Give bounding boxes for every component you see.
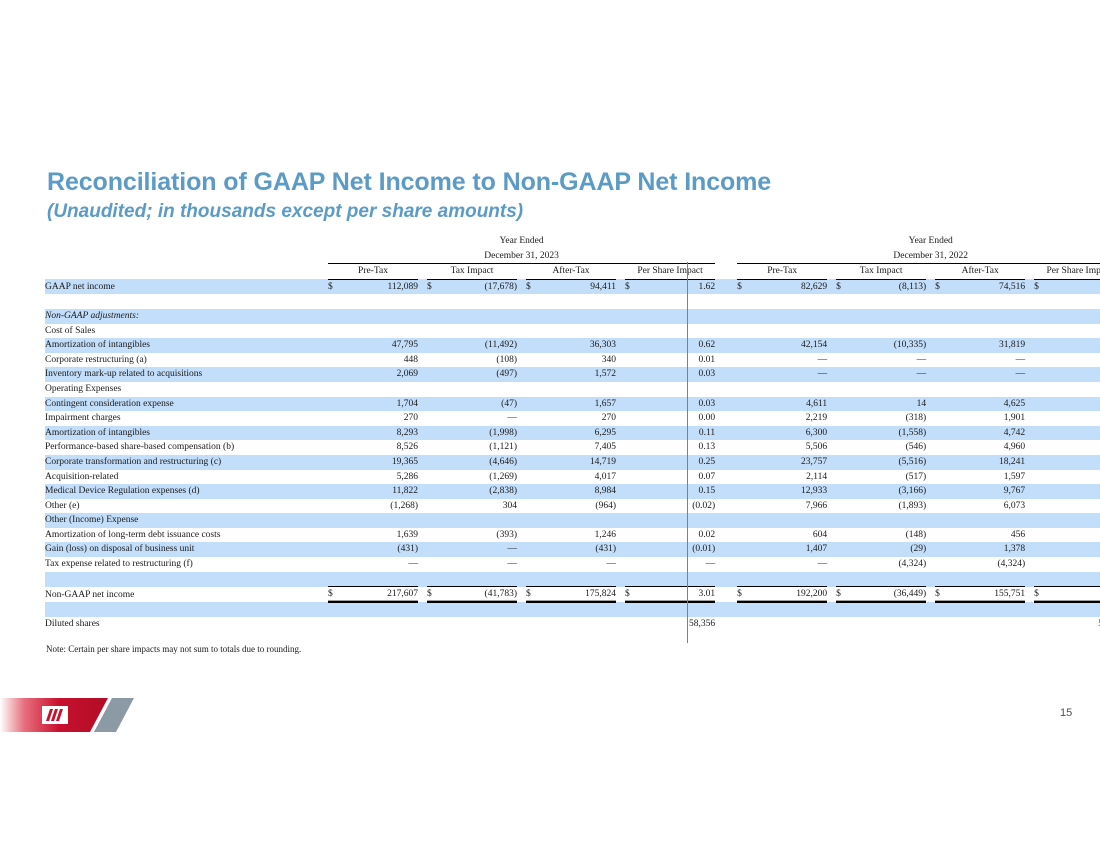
currency-symbol-y2023-pretax [328,294,342,309]
cell-gap [616,426,625,441]
cell-y2023-tax: — [441,542,517,557]
currency-symbol-y2023-pershare [625,382,639,397]
currency-symbol-y2023-pershare [625,470,639,485]
currency-symbol-y2022-pretax [737,513,751,528]
cell-y2023-pretax [342,309,418,324]
row-divider-gap [715,557,737,572]
currency-symbol-y2023-aftertax [526,617,540,632]
cell-y2023-aftertax [540,602,616,617]
cell-y2023-tax: (393) [441,528,517,543]
currency-symbol-y2023-pershare [625,397,639,412]
row-divider-gap [715,309,737,324]
rounding-note: Note: Certain per share impacts may not … [46,644,301,654]
currency-symbol-y2023-tax [427,557,441,572]
row-label: Operating Expenses [45,382,328,397]
cell-y2023-pretax [342,294,418,309]
col-header-2023-tax: Tax Impact [427,264,517,280]
cell-gap [926,617,935,632]
currency-symbol-y2023-pershare [625,513,639,528]
currency-symbol-y2022-tax [836,411,850,426]
currency-symbol-y2022-tax [836,382,850,397]
cell-y2023-aftertax: 94,411 [540,279,616,294]
cell-y2023-pershare: 0.11 [639,426,715,441]
cell-gap [1025,455,1034,470]
cell-y2023-pretax [342,572,418,587]
cell-gap [827,542,836,557]
cell-y2023-pershare: 1.62 [639,279,715,294]
currency-symbol-y2022-tax [836,338,850,353]
currency-symbol-y2023-aftertax [526,513,540,528]
currency-symbol-y2023-pershare [625,411,639,426]
cell-y2022-aftertax: 1,901 [949,411,1025,426]
currency-symbol-y2023-pershare [625,542,639,557]
currency-symbol-y2023-pretax [328,309,342,324]
row-label: Non-GAAP net income [45,587,328,603]
row-divider-gap [715,587,737,603]
cell-y2022-pretax: 192,200 [751,587,827,603]
currency-symbol-y2022-pershare [1034,353,1048,368]
cell-gap [418,397,427,412]
cell-y2023-aftertax: 175,824 [540,587,616,603]
cell-y2022-aftertax: 1,378 [949,542,1025,557]
currency-symbol-y2023-aftertax [526,353,540,368]
row-label: Performance-based share-based compensati… [45,440,328,455]
currency-symbol-y2022-pretax [737,426,751,441]
cell-y2022-pershare: 0.17 [1048,484,1100,499]
row-label: Other (e) [45,499,328,514]
cell-y2023-pershare: 0.15 [639,484,715,499]
currency-symbol-y2022-aftertax [935,338,949,353]
currency-symbol-y2023-pershare [625,294,639,309]
row-divider-gap [715,324,737,339]
cell-y2023-pershare [639,572,715,587]
cell-gap [1025,513,1034,528]
row-divider-gap [715,440,737,455]
cell-gap [926,294,935,309]
currency-symbol-y2023-aftertax: $ [526,279,540,294]
currency-symbol-y2022-aftertax [935,499,949,514]
cell-y2022-pretax: 42,154 [751,338,827,353]
currency-symbol-y2023-pershare [625,440,639,455]
cell-y2022-pretax [751,382,827,397]
cell-gap [926,382,935,397]
table-row [45,602,1100,617]
cell-y2023-aftertax: (964) [540,499,616,514]
period-2022-line1: Year Ended [737,234,1100,249]
currency-symbol-y2022-aftertax [935,484,949,499]
cell-y2022-aftertax: — [949,367,1025,382]
table-row: Other (Income) Expense [45,513,1100,528]
cell-y2022-pretax: 1,407 [751,542,827,557]
currency-symbol-y2022-tax [836,294,850,309]
cell-y2022-pershare: 0.11 [1048,499,1100,514]
cell-y2022-aftertax [949,382,1025,397]
table-row: Acquisition-related 5,286 (1,269) 4,017 … [45,470,1100,485]
cell-y2022-tax [850,324,926,339]
cell-y2023-pretax: 5,286 [342,470,418,485]
cell-gap [517,309,526,324]
cell-y2022-aftertax [949,513,1025,528]
cell-y2023-aftertax: 1,246 [540,528,616,543]
currency-symbol-y2023-tax: $ [427,279,441,294]
cell-y2022-tax: (546) [850,440,926,455]
cell-gap [926,542,935,557]
cell-gap [1025,617,1034,632]
cell-y2023-tax [441,617,517,632]
row-label: Amortization of intangibles [45,426,328,441]
cell-y2022-pretax: 604 [751,528,827,543]
cell-y2023-pershare: 0.25 [639,455,715,470]
cell-gap [517,382,526,397]
row-divider-gap [715,279,737,294]
cell-gap [616,587,625,603]
cell-gap [418,411,427,426]
currency-symbol-y2022-aftertax: $ [935,587,949,603]
cell-y2022-aftertax: 74,516 [949,279,1025,294]
currency-symbol-y2023-tax [427,528,441,543]
cell-gap [418,440,427,455]
cell-y2022-pretax: — [751,557,827,572]
currency-symbol-y2023-aftertax [526,557,540,572]
currency-symbol-y2022-pretax [737,367,751,382]
cell-y2023-tax [441,513,517,528]
cell-gap [616,455,625,470]
cell-gap [517,353,526,368]
table-row: Cost of Sales [45,324,1100,339]
cell-y2023-tax [441,382,517,397]
cell-y2022-pretax: 6,300 [751,426,827,441]
cell-y2022-pretax [751,513,827,528]
currency-symbol-y2023-aftertax [526,338,540,353]
cell-y2023-pershare [639,602,715,617]
cell-gap [616,557,625,572]
currency-symbol-y2022-aftertax [935,324,949,339]
table-row: Impairment charges 270 — 270 0.00 2,219 … [45,411,1100,426]
cell-y2022-pershare [1048,572,1100,587]
cell-y2023-tax: (4,646) [441,455,517,470]
currency-symbol-y2022-pershare [1034,528,1048,543]
cell-gap [827,513,836,528]
period-2023-line2: December 31, 2023 [328,249,715,264]
cell-gap [926,426,935,441]
currency-symbol-y2022-pretax [737,294,751,309]
row-divider-gap [715,455,737,470]
currency-symbol-y2023-aftertax [526,484,540,499]
currency-symbol-y2022-pershare [1034,484,1048,499]
cell-gap [827,353,836,368]
cell-y2022-aftertax [949,617,1025,632]
cell-gap [418,499,427,514]
cell-gap [827,484,836,499]
cell-y2023-aftertax [540,324,616,339]
cell-gap [517,455,526,470]
cell-y2023-pershare [639,382,715,397]
cell-gap [616,602,625,617]
cell-y2023-pretax: 270 [342,411,418,426]
cell-gap [418,557,427,572]
row-label [45,602,328,617]
cell-y2023-pretax: 11,822 [342,484,418,499]
currency-symbol-y2023-pretax [328,484,342,499]
cell-y2022-aftertax: 31,819 [949,338,1025,353]
cell-y2022-pershare: 0.03 [1048,411,1100,426]
cell-y2022-pretax: 7,966 [751,499,827,514]
header-row-period-line1: Year Ended Year Ended [45,234,1100,249]
col-header-2023-pretax: Pre-Tax [328,264,418,280]
row-divider-gap [715,294,737,309]
cell-y2023-pershare: 0.02 [639,528,715,543]
cell-gap [827,470,836,485]
currency-symbol-y2022-pretax [737,382,751,397]
table-row: Non-GAAP adjustments: [45,309,1100,324]
cell-y2023-tax [441,602,517,617]
cell-y2023-tax: (47) [441,397,517,412]
cell-y2023-pretax: 47,795 [342,338,418,353]
cell-y2023-aftertax: 14,719 [540,455,616,470]
table-row: Corporate restructuring (a) 448 (108) 34… [45,353,1100,368]
currency-symbol-y2023-aftertax [526,426,540,441]
cell-gap [827,455,836,470]
currency-symbol-y2022-pretax [737,484,751,499]
cell-y2023-pershare: 0.03 [639,367,715,382]
cell-gap [418,309,427,324]
table-row [45,572,1100,587]
cell-y2022-tax: (4,324) [850,557,926,572]
currency-symbol-y2023-pershare [625,455,639,470]
cell-y2022-pershare [1048,382,1100,397]
currency-symbol-y2022-pershare [1034,617,1048,632]
currency-symbol-y2023-aftertax [526,455,540,470]
currency-symbol-y2022-tax [836,353,850,368]
currency-symbol-y2023-pershare [625,499,639,514]
cell-y2023-tax: (11,492) [441,338,517,353]
currency-symbol-y2023-pershare [625,602,639,617]
reconciliation-table-wrapper: Year Ended Year Ended December 31, 2023 … [45,234,1057,632]
cell-gap [418,338,427,353]
cell-gap [1025,397,1034,412]
currency-symbol-y2023-pershare [625,528,639,543]
currency-symbol-y2023-aftertax [526,367,540,382]
cell-gap [418,426,427,441]
row-label [45,294,328,309]
currency-symbol-y2023-aftertax [526,397,540,412]
currency-symbol-y2023-pretax [328,411,342,426]
currency-symbol-y2022-aftertax [935,440,949,455]
cell-y2023-tax: (1,998) [441,426,517,441]
cell-gap [517,484,526,499]
cell-y2023-aftertax [540,617,616,632]
currency-symbol-y2022-tax [836,397,850,412]
cell-y2022-pretax: 4,611 [751,397,827,412]
cell-y2023-pretax: 8,526 [342,440,418,455]
cell-y2022-aftertax: 6,073 [949,499,1025,514]
cell-y2022-tax: — [850,367,926,382]
currency-symbol-y2023-aftertax [526,411,540,426]
cell-gap [616,513,625,528]
currency-symbol-y2022-tax [836,542,850,557]
cell-y2022-tax: (5,516) [850,455,926,470]
cell-gap [827,338,836,353]
cell-y2022-aftertax: 9,767 [949,484,1025,499]
currency-symbol-y2022-pershare [1034,542,1048,557]
currency-symbol-y2023-tax [427,411,441,426]
currency-symbol-y2023-tax [427,484,441,499]
currency-symbol-y2023-pretax [328,499,342,514]
cell-gap [418,279,427,294]
currency-symbol-y2022-aftertax [935,557,949,572]
cell-gap [1025,367,1034,382]
currency-symbol-y2023-pretax [328,557,342,572]
cell-gap [616,338,625,353]
currency-symbol-y2022-aftertax [935,411,949,426]
row-label: Impairment charges [45,411,328,426]
cell-gap [1025,411,1034,426]
cell-y2022-pretax [751,602,827,617]
currency-symbol-y2022-aftertax [935,397,949,412]
currency-symbol-y2022-aftertax [935,382,949,397]
cell-gap [517,338,526,353]
currency-symbol-y2022-tax [836,324,850,339]
cell-y2022-pretax: 82,629 [751,279,827,294]
cell-y2022-pershare [1048,294,1100,309]
currency-symbol-y2022-pershare [1034,338,1048,353]
cell-gap [418,617,427,632]
currency-symbol-y2022-aftertax [935,426,949,441]
cell-y2023-pretax: — [342,557,418,572]
currency-symbol-y2022-aftertax [935,470,949,485]
cell-y2022-pershare: 0.08 [1048,426,1100,441]
cell-gap [1025,353,1034,368]
cell-y2022-tax: (8,113) [850,279,926,294]
cell-y2022-pretax [751,324,827,339]
cell-gap [1025,324,1034,339]
table-row: Amortization of intangibles 47,795 (11,4… [45,338,1100,353]
cell-gap [418,513,427,528]
currency-symbol-y2023-pretax [328,353,342,368]
cell-gap [827,602,836,617]
currency-symbol-y2022-pretax [737,572,751,587]
currency-symbol-y2022-tax [836,426,850,441]
cell-gap [616,382,625,397]
cell-gap [517,324,526,339]
currency-symbol-y2022-pershare [1034,602,1048,617]
currency-symbol-y2023-pretax [328,324,342,339]
cell-y2023-aftertax: — [540,557,616,572]
currency-symbol-y2022-aftertax [935,617,949,632]
cell-y2022-pershare [1048,309,1100,324]
currency-symbol-y2022-pershare [1034,499,1048,514]
cell-y2022-aftertax [949,572,1025,587]
currency-symbol-y2022-pershare [1034,470,1048,485]
currency-symbol-y2022-tax: $ [836,279,850,294]
cell-y2022-aftertax [949,294,1025,309]
currency-symbol-y2023-aftertax [526,294,540,309]
row-label: Cost of Sales [45,324,328,339]
cell-y2022-pretax [751,572,827,587]
cell-y2022-tax [850,309,926,324]
currency-symbol-y2023-tax [427,513,441,528]
row-divider-gap [715,470,737,485]
cell-gap [418,528,427,543]
currency-symbol-y2022-pershare [1034,294,1048,309]
cell-gap [616,279,625,294]
currency-symbol-y2022-pershare [1034,309,1048,324]
cell-y2023-pershare: — [639,557,715,572]
table-row: Other (e) (1,268) 304 (964) (0.02) 7,966… [45,499,1100,514]
cell-y2023-pershare: 0.00 [639,411,715,426]
cell-gap [517,440,526,455]
currency-symbol-y2023-tax [427,602,441,617]
currency-symbol-y2023-tax [427,455,441,470]
table-row: Tax expense related to restructuring (f)… [45,557,1100,572]
cell-gap [1025,602,1034,617]
currency-symbol-y2023-pershare: $ [625,279,639,294]
cell-gap [517,557,526,572]
cell-gap [926,411,935,426]
cell-y2022-tax [850,602,926,617]
table-body: GAAP net income$112,089 $(17,678) $94,41… [45,279,1100,632]
cell-y2022-tax: 14 [850,397,926,412]
row-divider-gap [715,397,737,412]
cell-gap [418,470,427,485]
cell-gap [926,557,935,572]
cell-y2023-aftertax: 36,303 [540,338,616,353]
cell-gap [418,484,427,499]
currency-symbol-y2023-aftertax: $ [526,587,540,603]
cell-y2022-tax: (36,449) [850,587,926,603]
cell-y2023-aftertax: 1,657 [540,397,616,412]
cell-gap [1025,309,1034,324]
cell-y2023-pretax: 1,639 [342,528,418,543]
currency-symbol-y2022-pretax [737,499,751,514]
cell-gap [827,397,836,412]
row-divider-gap [715,426,737,441]
cell-gap [616,353,625,368]
row-label: Medical Device Regulation expenses (d) [45,484,328,499]
cell-gap [418,353,427,368]
currency-symbol-y2023-tax [427,294,441,309]
cell-y2022-tax: (1,893) [850,499,926,514]
cell-y2022-tax: (1,558) [850,426,926,441]
page-subtitle: (Unaudited; in thousands except per shar… [47,201,1047,224]
cell-y2022-aftertax [949,324,1025,339]
row-label: Contingent consideration expense [45,397,328,412]
cell-y2023-aftertax: 1,572 [540,367,616,382]
cell-gap [517,397,526,412]
cell-gap [1025,382,1034,397]
cell-y2023-tax [441,294,517,309]
cell-y2022-pershare: 0.09 [1048,440,1100,455]
row-divider-gap [715,353,737,368]
cell-gap [418,542,427,557]
currency-symbol-y2022-pretax [737,324,751,339]
cell-gap [616,499,625,514]
currency-symbol-y2023-tax [427,440,441,455]
cell-gap [517,367,526,382]
currency-symbol-y2023-pershare [625,309,639,324]
cell-gap [418,294,427,309]
cell-y2023-pretax [342,382,418,397]
currency-symbol-y2022-pretax [737,470,751,485]
cell-y2023-pretax: 19,365 [342,455,418,470]
col-header-2023-pershare: Per Share Impact [625,264,715,280]
cell-gap [418,572,427,587]
header-row-period-line2: December 31, 2023 December 31, 2022 [45,249,1100,264]
table-row: Medical Device Regulation expenses (d) 1… [45,484,1100,499]
currency-symbol-y2022-pretax [737,353,751,368]
cell-gap [827,557,836,572]
cell-y2022-aftertax: 155,751 [949,587,1025,603]
